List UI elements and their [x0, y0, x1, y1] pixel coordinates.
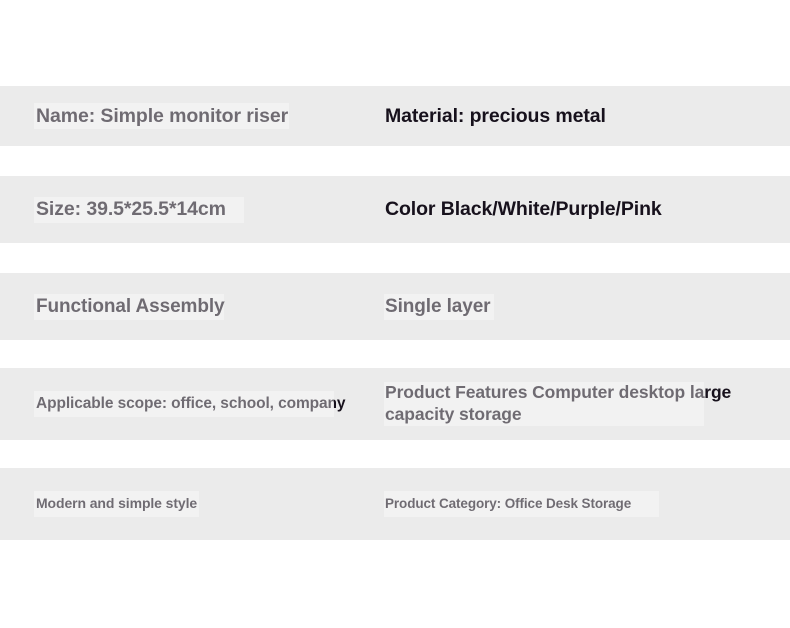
- spec-label-product-category: Product Category: Office Desk Storage: [385, 496, 631, 511]
- spec-cell-right: Single layer: [370, 295, 790, 319]
- spec-label-color: Color Black/White/Purple/Pink: [385, 198, 662, 220]
- spec-cell-left: Size: 39.5*25.5*14cm: [0, 197, 370, 221]
- spec-row: Name: Simple monitor riser Material: pre…: [0, 86, 790, 146]
- spec-label-size: Size: 39.5*25.5*14cm: [36, 198, 226, 220]
- spec-label-applicable-scope: Applicable scope: office, school, compan…: [36, 395, 345, 412]
- spec-cell-right: Material: precious metal: [370, 104, 790, 128]
- spec-row: Modern and simple style Product Category…: [0, 468, 790, 540]
- spec-label-material: Material: precious metal: [385, 105, 606, 127]
- spec-label-functional-assembly: Functional Assembly: [36, 296, 225, 317]
- spec-label-name: Name: Simple monitor riser: [36, 105, 288, 127]
- spec-cell-left: Name: Simple monitor riser: [0, 104, 370, 128]
- spec-label-product-features: Product Features Computer desktop large …: [385, 382, 731, 424]
- spec-cell-right: Product Category: Office Desk Storage: [370, 496, 790, 513]
- spec-cell-left: Functional Assembly: [0, 295, 370, 319]
- spec-cell-right: Color Black/White/Purple/Pink: [370, 197, 790, 221]
- spec-cell-right: Product Features Computer desktop large …: [370, 382, 790, 426]
- spec-row: Applicable scope: office, school, compan…: [0, 368, 790, 440]
- spec-label-style: Modern and simple style: [36, 495, 197, 511]
- spec-cell-left: Applicable scope: office, school, compan…: [0, 394, 370, 413]
- spec-row: Size: 39.5*25.5*14cm Color Black/White/P…: [0, 176, 790, 243]
- product-specification-sheet: Name: Simple monitor riser Material: pre…: [0, 0, 790, 628]
- spec-cell-left: Modern and simple style: [0, 495, 370, 513]
- spec-row: Functional Assembly Single layer: [0, 273, 790, 340]
- spec-label-layer: Single layer: [385, 296, 490, 317]
